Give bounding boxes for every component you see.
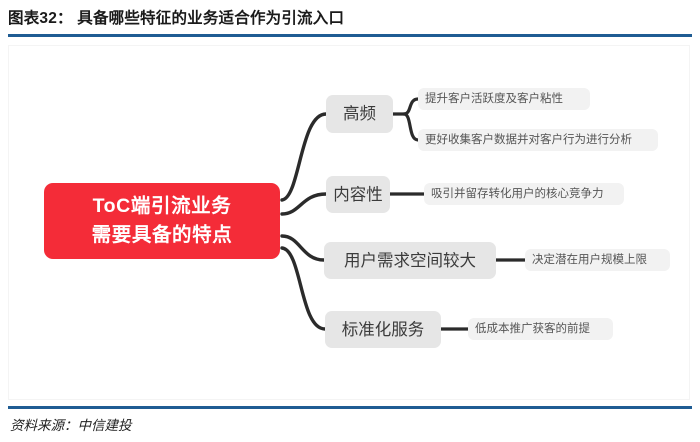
footer-divider bbox=[8, 406, 692, 409]
leaf-node-1-1[interactable]: 提升客户活跃度及客户粘性 bbox=[418, 88, 590, 110]
title-block: 图表32： 具备哪些特征的业务适合作为引流入口 bbox=[8, 6, 692, 40]
branch-node-yonghuxuqiu[interactable]: 用户需求空间较大 bbox=[324, 242, 496, 279]
branch-node-gaopin[interactable]: 高频 bbox=[326, 95, 393, 133]
leaf-node-2-1[interactable]: 吸引并留存转化用户的核心竞争力 bbox=[424, 183, 624, 205]
title-divider bbox=[8, 34, 692, 37]
leaf-node-4-1[interactable]: 低成本推广获客的前提 bbox=[468, 318, 613, 340]
branch-node-biaozhunhua[interactable]: 标准化服务 bbox=[325, 311, 441, 348]
page-title: 图表32： 具备哪些特征的业务适合作为引流入口 bbox=[8, 6, 692, 32]
source-note: 资料来源：中信建投 bbox=[10, 414, 132, 434]
leaf-node-3-1[interactable]: 决定潜在用户规模上限 bbox=[525, 249, 670, 271]
root-node-line-1: ToC端引流业务 bbox=[93, 192, 232, 221]
branch-node-neirongxing[interactable]: 内容性 bbox=[326, 176, 390, 213]
root-node[interactable]: ToC端引流业务 需要具备的特点 bbox=[44, 183, 280, 259]
root-node-line-2: 需要具备的特点 bbox=[92, 221, 233, 250]
leaf-node-1-2[interactable]: 更好收集客户数据并对客户行为进行分析 bbox=[418, 129, 658, 151]
